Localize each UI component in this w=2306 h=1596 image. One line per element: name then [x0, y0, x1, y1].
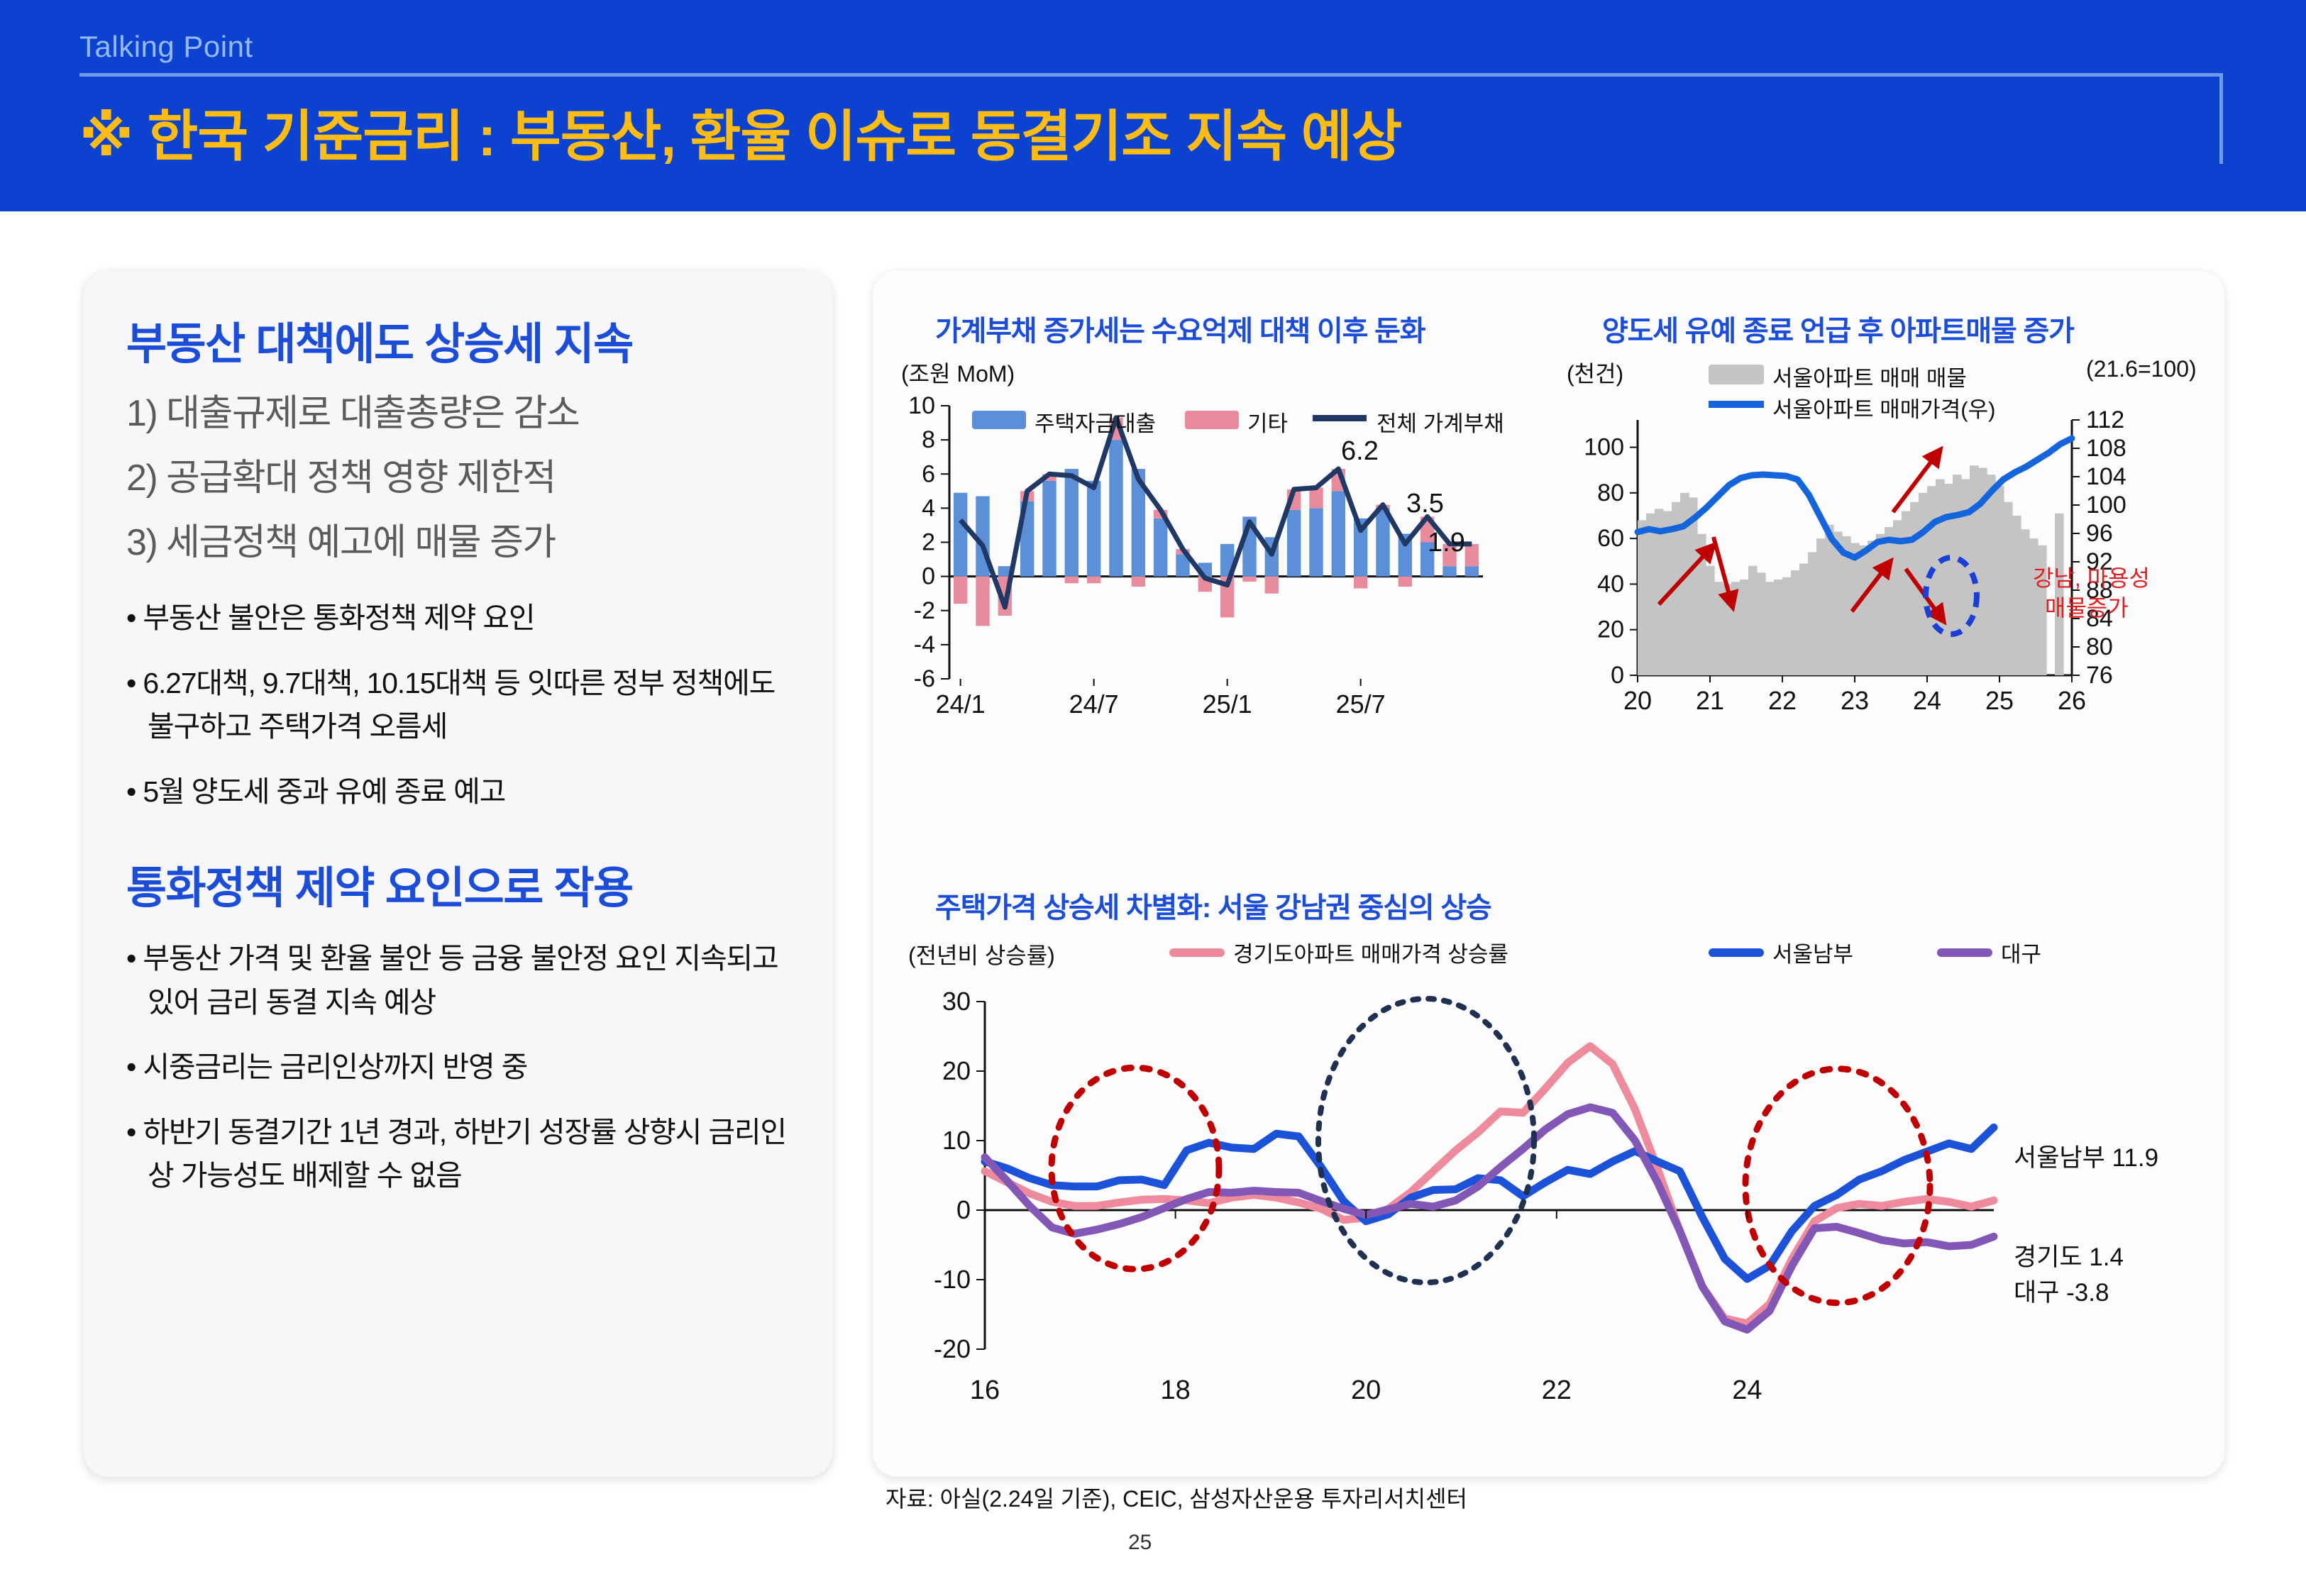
svg-text:80: 80: [2086, 633, 2113, 660]
legend-label-housing-loan: 주택자금대출: [1035, 406, 1156, 438]
legend-label-gyeonggi: 경기도아파트 매매가격 상승률: [1233, 936, 1508, 968]
header-divider: [79, 73, 2222, 77]
svg-text:6: 6: [922, 460, 935, 487]
annotation-gangnam: 강남, 마용성: [2033, 564, 2150, 592]
svg-text:100: 100: [2086, 492, 2126, 519]
svg-text:-4: -4: [914, 631, 935, 658]
end-label-daegu: 대구 -3.8: [2014, 1273, 2109, 1309]
svg-text:24: 24: [1913, 686, 1941, 715]
legend-label-daegu: 대구: [2001, 936, 2041, 968]
numbered-item-2: 2) 공급확대 정책 영향 제한적: [126, 448, 797, 501]
svg-text:-2: -2: [914, 597, 935, 624]
end-label-gyeonggi: 경기도 1.4: [2014, 1237, 2124, 1273]
svg-text:24: 24: [1732, 1375, 1762, 1405]
header-divider-right: [2219, 73, 2223, 164]
svg-text:60: 60: [1597, 525, 1624, 552]
axis-unit-right-apartment: (21.6=100): [2086, 356, 2197, 382]
legend-label-total-debt: 전체 가계부채: [1377, 406, 1504, 438]
svg-text:10: 10: [942, 1126, 971, 1155]
svg-text:21: 21: [1696, 686, 1724, 715]
numbered-item-3: 3) 세금정책 예고에 매물 증가: [126, 512, 797, 565]
slide-header: Talking Point ※ 한국 기준금리 : 부동산, 환율 이슈로 동결…: [0, 0, 2306, 211]
legend-swatch-housing-loan: [972, 411, 1026, 429]
summary-heading-2: 통화정책 제약 요인으로 작용: [126, 852, 797, 916]
svg-text:22: 22: [1542, 1375, 1572, 1405]
svg-text:40: 40: [1597, 570, 1624, 597]
svg-text:25/1: 25/1: [1203, 689, 1252, 719]
chart-title-household-debt: 가계부채 증가세는 수요억제 대책 이후 둔화: [935, 308, 1425, 349]
legend-swatch-apartment-listings: [1709, 365, 1764, 384]
svg-text:0: 0: [922, 563, 935, 590]
chart-household-debt: 1086420-2-4-624/124/725/125/7: [894, 384, 1504, 739]
data-label-35: 3.5: [1406, 489, 1444, 519]
summary-heading-1: 부동산 대책에도 상승세 지속: [126, 308, 797, 372]
bullet-item: • 5월 양도세 중과 유예 종료 예고: [126, 770, 797, 814]
svg-text:10: 10: [908, 392, 935, 419]
chart-apartment-listings: 1008060402001121081041009692888480762021…: [1554, 392, 2178, 732]
svg-text:96: 96: [2086, 520, 2113, 547]
svg-text:30: 30: [942, 987, 971, 1016]
chart-title-apartment-listings: 양도세 유예 종료 언급 후 아파트매물 증가: [1602, 308, 2074, 349]
data-label-62: 6.2: [1341, 436, 1379, 467]
svg-text:20: 20: [1623, 686, 1652, 715]
axis-unit-left-apartment: (천건): [1567, 356, 1623, 389]
legend-label-seoul-south: 서울남부: [1772, 936, 1853, 968]
svg-text:-20: -20: [934, 1334, 971, 1363]
header-eyebrow: Talking Point: [79, 30, 253, 64]
svg-text:24/7: 24/7: [1069, 689, 1119, 719]
chart-title-housing-price: 주택가격 상승세 차별화: 서울 강남권 중심의 상승: [935, 885, 1491, 926]
svg-text:4: 4: [922, 494, 935, 521]
legend-label-other: 기타: [1247, 406, 1288, 438]
legend-label-apartment-price: 서울아파트 매매가격(우): [1772, 392, 1995, 423]
legend-swatch-other: [1185, 411, 1239, 429]
bullet-item: • 부동산 가격 및 환율 불안 등 금융 불안정 요인 지속되고 있어 금리 …: [126, 937, 797, 1024]
svg-text:20: 20: [1597, 616, 1624, 643]
legend-swatch-apartment-price: [1709, 401, 1764, 408]
svg-text:104: 104: [2086, 463, 2126, 490]
page-title: ※ 한국 기준금리 : 부동산, 환율 이슈로 동결기조 지속 예상: [79, 92, 1401, 172]
legend-swatch-seoul-south: [1709, 948, 1764, 957]
charts-panel: 가계부채 증가세는 수요억제 대책 이후 둔화 (조원 MoM) 1086420…: [873, 271, 2224, 1477]
svg-text:25: 25: [1985, 686, 2014, 715]
annotation-listing-increase: 매물증가: [2045, 594, 2129, 622]
bullet-item: • 하반기 동결기간 1년 경과, 하반기 성장률 상향시 금리인상 가능성도 …: [126, 1111, 797, 1198]
axis-unit-housing-price: (전년비 상승률): [908, 938, 1055, 970]
legend-swatch-daegu: [1937, 948, 1992, 957]
summary-panel: 부동산 대책에도 상승세 지속 1) 대출규제로 대출총량은 감소 2) 공급확…: [84, 271, 832, 1477]
legend-swatch-total-debt: [1313, 415, 1367, 421]
svg-text:0: 0: [1611, 662, 1624, 689]
end-label-seoul-south: 서울남부 11.9: [2014, 1138, 2158, 1174]
svg-text:18: 18: [1160, 1375, 1190, 1405]
svg-text:112: 112: [2086, 406, 2124, 433]
svg-text:-6: -6: [914, 665, 935, 692]
svg-text:76: 76: [2086, 662, 2113, 689]
svg-text:108: 108: [2086, 435, 2126, 462]
svg-text:25/7: 25/7: [1336, 689, 1386, 719]
svg-text:22: 22: [1768, 686, 1797, 715]
svg-text:80: 80: [1597, 480, 1624, 506]
legend-label-apartment-listings: 서울아파트 매매 매물: [1772, 360, 1967, 392]
bullet-item: • 부동산 불안은 통화정책 제약 요인: [126, 597, 797, 641]
svg-text:0: 0: [956, 1195, 971, 1224]
svg-text:8: 8: [922, 426, 935, 453]
bullet-item: • 6.27대책, 9.7대책, 10.15대책 등 잇따른 정부 정책에도 불…: [126, 662, 797, 749]
bullet-item: • 시중금리는 금리인상까지 반영 중: [126, 1046, 797, 1090]
svg-text:24/1: 24/1: [936, 689, 986, 719]
svg-text:16: 16: [970, 1375, 1000, 1405]
svg-text:23: 23: [1841, 686, 1869, 715]
source-note: 자료: 아실(2.24일 기준), CEIC, 삼성자산운용 투자리서치센터: [886, 1481, 1467, 1514]
svg-text:20: 20: [1351, 1375, 1381, 1405]
svg-text:2: 2: [922, 529, 935, 556]
legend-swatch-gyeonggi: [1169, 948, 1225, 957]
svg-text:26: 26: [2058, 686, 2086, 715]
svg-text:-10: -10: [934, 1265, 971, 1294]
data-label-19: 1.9: [1428, 528, 1465, 558]
svg-text:100: 100: [1584, 434, 1624, 461]
page-number: 25: [1128, 1531, 1152, 1555]
chart-housing-price-growth: 3020100-10-201618202224: [901, 980, 2129, 1427]
numbered-item-1: 1) 대출규제로 대출총량은 감소: [126, 383, 797, 436]
svg-text:20: 20: [942, 1056, 971, 1085]
